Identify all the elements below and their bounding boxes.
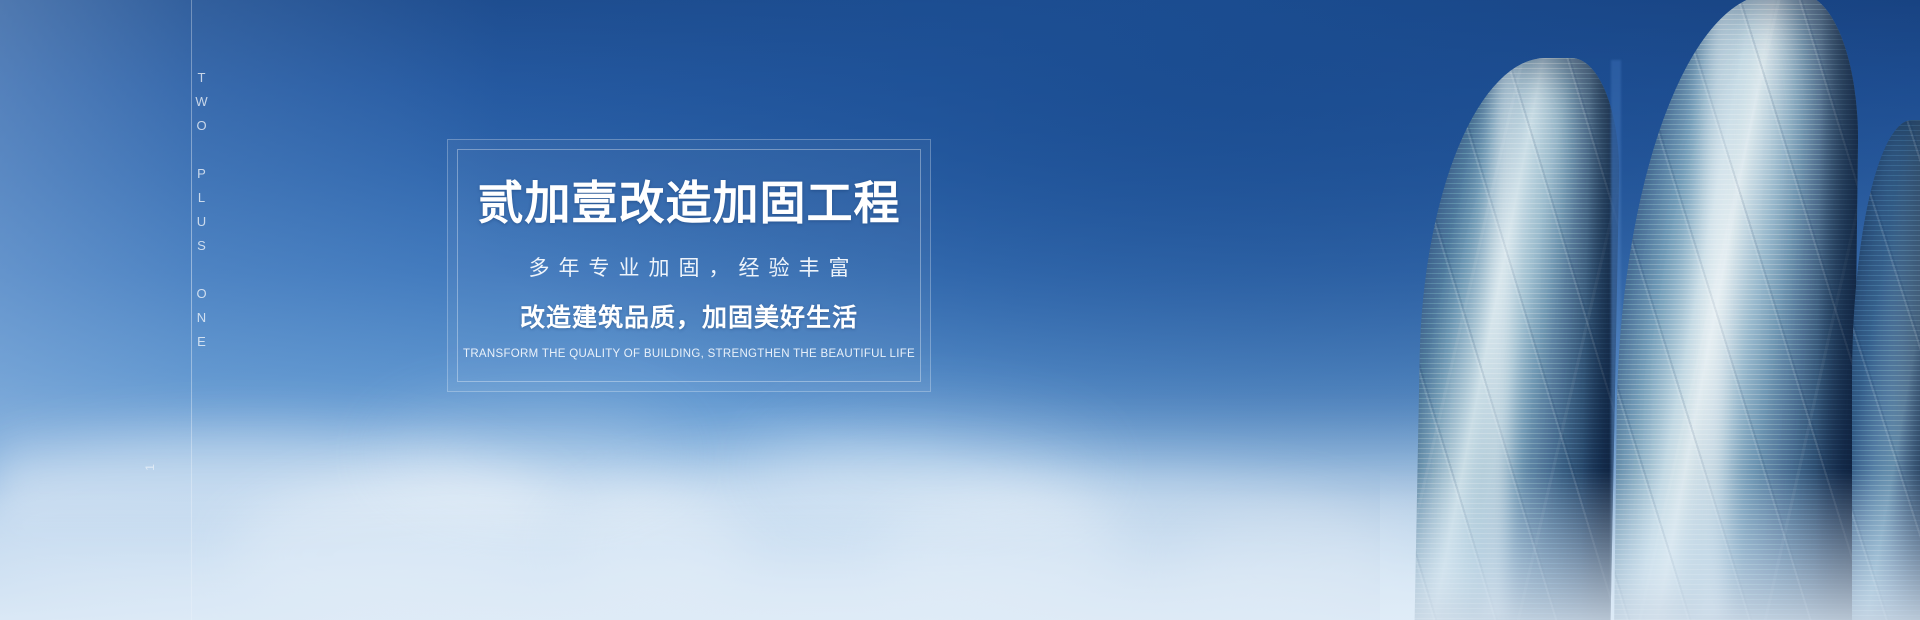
side-vertical-label: TWO PLUS ONE: [176, 70, 208, 358]
skyscraper-illustration: [1130, 0, 1920, 620]
hero-panel-content: 贰加壹改造加固工程 多年专业加固，经验丰富 改造建筑品质，加固美好生活 TRAN…: [458, 150, 920, 381]
side-slide-number: 1: [143, 462, 157, 471]
tower-spiral-mullions: [1852, 120, 1920, 620]
hero-subtitle: 多年专业加固，经验丰富: [520, 258, 859, 279]
tower-far-right: [1852, 120, 1920, 620]
tower-right: [1614, 0, 1860, 620]
hero-text-panel: 贰加壹改造加固工程 多年专业加固，经验丰富 改造建筑品质，加固美好生活 TRAN…: [447, 139, 931, 392]
hero-banner: TWO PLUS ONE 1 贰加壹改造加固工程 多年专业加固，经验丰富 改造建…: [0, 0, 1920, 620]
hero-english-tagline: TRANSFORM THE QUALITY OF BUILDING, STREN…: [463, 349, 915, 361]
tower-glass-highlight: [1686, 0, 1746, 620]
tower-left: [1415, 58, 1622, 620]
hero-title: 贰加壹改造加固工程: [478, 180, 901, 226]
hero-panel-inner-border: 贰加壹改造加固工程 多年专业加固，经验丰富 改造建筑品质，加固美好生活 TRAN…: [457, 149, 921, 382]
hero-slogan: 改造建筑品质，加固美好生活: [520, 306, 858, 331]
